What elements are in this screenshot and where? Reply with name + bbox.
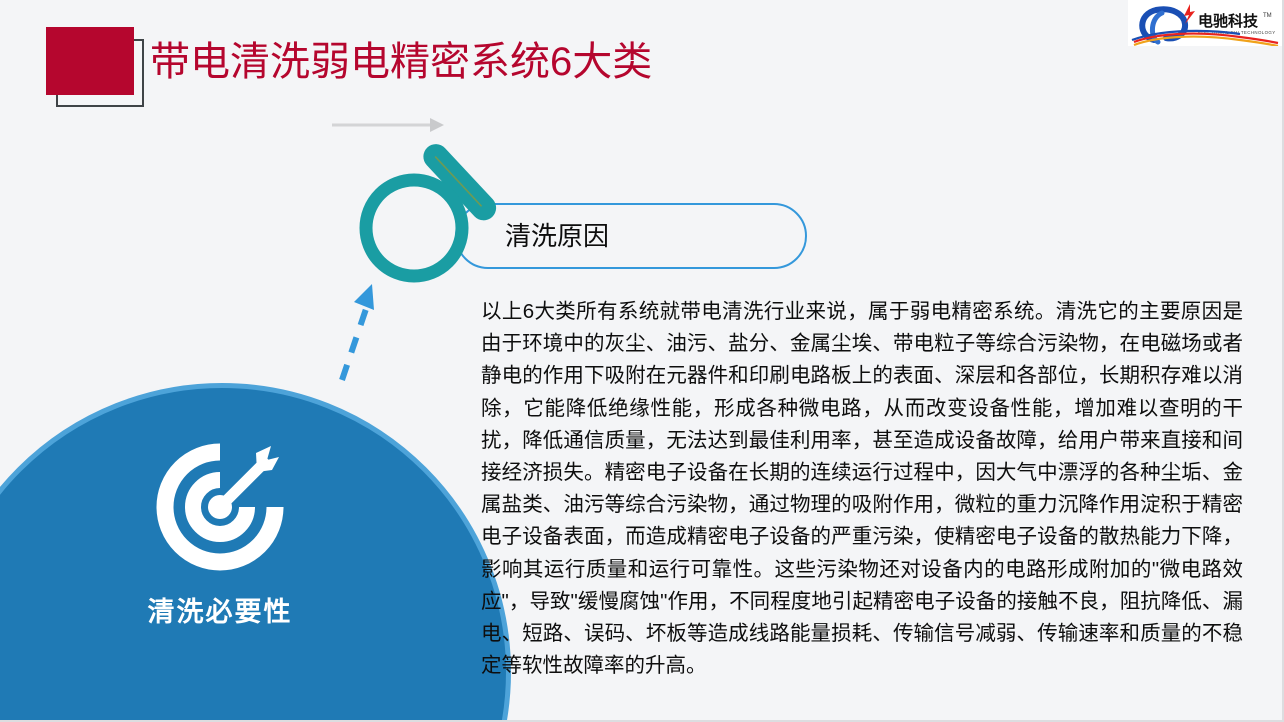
svg-text:电驰科技: 电驰科技 <box>1198 12 1259 30</box>
logo-graphic: 电驰科技 ELECTRICAL CHI TECHNOLOGY TM <box>1128 0 1282 46</box>
target-arrow-icon <box>153 440 287 574</box>
slide-canvas: 电驰科技 ELECTRICAL CHI TECHNOLOGY TM 带电清洗弱电… <box>0 0 1284 722</box>
title-red-square <box>46 27 134 95</box>
left-panel-content: 清洗必要性 <box>60 440 380 629</box>
page-title: 带电清洗弱电精密系统6大类 <box>150 38 652 86</box>
left-panel-label: 清洗必要性 <box>60 590 380 629</box>
magnifier-icon <box>352 118 532 283</box>
svg-text:TM: TM <box>1263 13 1272 19</box>
body-paragraph: 以上6大类所有系统就带电清洗行业来说，属于弱电精密系统。清洗它的主要原因是由于环… <box>481 296 1243 682</box>
company-logo: 电驰科技 ELECTRICAL CHI TECHNOLOGY TM <box>1128 0 1282 46</box>
dashed-arrow-connector <box>320 280 400 390</box>
